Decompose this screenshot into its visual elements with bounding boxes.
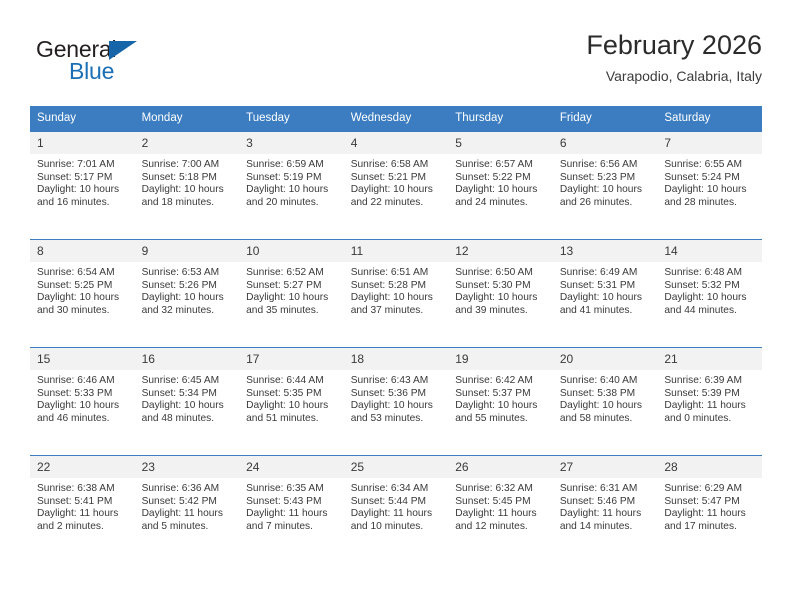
sunrise-text: Sunrise: 6:57 AM	[455, 159, 547, 172]
calendar-week-row: 22 Sunrise: 6:38 AM Sunset: 5:41 PM Dayl…	[30, 456, 762, 564]
day-number: 5	[448, 132, 553, 154]
calendar-page: General Blue February 2026 Varapodio, Ca…	[0, 0, 792, 612]
weekday-header-tuesday: Tuesday	[239, 106, 344, 132]
sunset-text: Sunset: 5:39 PM	[664, 388, 756, 401]
daylight-text: Daylight: 10 hours and 58 minutes.	[560, 400, 652, 425]
day-info: Sunrise: 6:53 AM Sunset: 5:26 PM Dayligh…	[135, 262, 240, 317]
daylight-text: Daylight: 10 hours and 24 minutes.	[455, 184, 547, 209]
calendar-day-cell[interactable]: 5 Sunrise: 6:57 AM Sunset: 5:22 PM Dayli…	[448, 132, 553, 240]
day-info: Sunrise: 6:59 AM Sunset: 5:19 PM Dayligh…	[239, 154, 344, 209]
sunset-text: Sunset: 5:26 PM	[142, 280, 234, 293]
day-number: 19	[448, 348, 553, 370]
daylight-text: Daylight: 10 hours and 44 minutes.	[664, 292, 756, 317]
day-number: 8	[30, 240, 135, 262]
day-number: 20	[553, 348, 658, 370]
day-info: Sunrise: 6:46 AM Sunset: 5:33 PM Dayligh…	[30, 370, 135, 425]
sunrise-text: Sunrise: 6:53 AM	[142, 267, 234, 280]
day-info: Sunrise: 6:44 AM Sunset: 5:35 PM Dayligh…	[239, 370, 344, 425]
calendar-day-cell[interactable]: 13 Sunrise: 6:49 AM Sunset: 5:31 PM Dayl…	[553, 240, 658, 348]
day-info: Sunrise: 6:52 AM Sunset: 5:27 PM Dayligh…	[239, 262, 344, 317]
sunset-text: Sunset: 5:42 PM	[142, 496, 234, 509]
logo-text-blue: Blue	[69, 58, 114, 85]
daylight-text: Daylight: 10 hours and 20 minutes.	[246, 184, 338, 209]
day-info: Sunrise: 6:43 AM Sunset: 5:36 PM Dayligh…	[344, 370, 449, 425]
sunrise-text: Sunrise: 6:52 AM	[246, 267, 338, 280]
sunset-text: Sunset: 5:25 PM	[37, 280, 129, 293]
sunrise-text: Sunrise: 6:43 AM	[351, 375, 443, 388]
calendar-day-cell[interactable]: 8 Sunrise: 6:54 AM Sunset: 5:25 PM Dayli…	[30, 240, 135, 348]
day-info: Sunrise: 6:57 AM Sunset: 5:22 PM Dayligh…	[448, 154, 553, 209]
calendar-week-row: 15 Sunrise: 6:46 AM Sunset: 5:33 PM Dayl…	[30, 348, 762, 456]
day-number: 26	[448, 456, 553, 478]
sunrise-text: Sunrise: 6:45 AM	[142, 375, 234, 388]
daylight-text: Daylight: 11 hours and 10 minutes.	[351, 508, 443, 533]
day-info: Sunrise: 6:48 AM Sunset: 5:32 PM Dayligh…	[657, 262, 762, 317]
daylight-text: Daylight: 10 hours and 28 minutes.	[664, 184, 756, 209]
sunset-text: Sunset: 5:22 PM	[455, 172, 547, 185]
day-info: Sunrise: 6:35 AM Sunset: 5:43 PM Dayligh…	[239, 478, 344, 533]
daylight-text: Daylight: 11 hours and 14 minutes.	[560, 508, 652, 533]
day-number: 21	[657, 348, 762, 370]
sunrise-text: Sunrise: 6:40 AM	[560, 375, 652, 388]
sunrise-text: Sunrise: 6:56 AM	[560, 159, 652, 172]
sunrise-text: Sunrise: 6:51 AM	[351, 267, 443, 280]
day-number: 13	[553, 240, 658, 262]
day-info: Sunrise: 6:49 AM Sunset: 5:31 PM Dayligh…	[553, 262, 658, 317]
day-number: 1	[30, 132, 135, 154]
sunset-text: Sunset: 5:36 PM	[351, 388, 443, 401]
calendar-day-cell[interactable]: 4 Sunrise: 6:58 AM Sunset: 5:21 PM Dayli…	[344, 132, 449, 240]
sunset-text: Sunset: 5:33 PM	[37, 388, 129, 401]
sunset-text: Sunset: 5:19 PM	[246, 172, 338, 185]
day-number: 24	[239, 456, 344, 478]
day-number: 7	[657, 132, 762, 154]
weekday-header-thursday: Thursday	[448, 106, 553, 132]
daylight-text: Daylight: 10 hours and 53 minutes.	[351, 400, 443, 425]
calendar-day-cell[interactable]: 23 Sunrise: 6:36 AM Sunset: 5:42 PM Dayl…	[135, 456, 240, 564]
sunset-text: Sunset: 5:32 PM	[664, 280, 756, 293]
calendar-day-cell[interactable]: 7 Sunrise: 6:55 AM Sunset: 5:24 PM Dayli…	[657, 132, 762, 240]
calendar-grid: Sunday Monday Tuesday Wednesday Thursday…	[30, 106, 762, 563]
calendar-day-cell[interactable]: 12 Sunrise: 6:50 AM Sunset: 5:30 PM Dayl…	[448, 240, 553, 348]
sunrise-text: Sunrise: 6:48 AM	[664, 267, 756, 280]
sunset-text: Sunset: 5:27 PM	[246, 280, 338, 293]
weekday-header-friday: Friday	[553, 106, 658, 132]
sunrise-text: Sunrise: 6:58 AM	[351, 159, 443, 172]
calendar-day-cell[interactable]: 25 Sunrise: 6:34 AM Sunset: 5:44 PM Dayl…	[344, 456, 449, 564]
calendar-day-cell[interactable]: 17 Sunrise: 6:44 AM Sunset: 5:35 PM Dayl…	[239, 348, 344, 456]
day-number: 11	[344, 240, 449, 262]
sunrise-text: Sunrise: 6:29 AM	[664, 483, 756, 496]
calendar-day-cell[interactable]: 11 Sunrise: 6:51 AM Sunset: 5:28 PM Dayl…	[344, 240, 449, 348]
day-number: 15	[30, 348, 135, 370]
daylight-text: Daylight: 11 hours and 0 minutes.	[664, 400, 756, 425]
day-info: Sunrise: 7:01 AM Sunset: 5:17 PM Dayligh…	[30, 154, 135, 209]
calendar-day-cell[interactable]: 26 Sunrise: 6:32 AM Sunset: 5:45 PM Dayl…	[448, 456, 553, 564]
sunrise-text: Sunrise: 6:31 AM	[560, 483, 652, 496]
day-info: Sunrise: 6:58 AM Sunset: 5:21 PM Dayligh…	[344, 154, 449, 209]
calendar-day-cell[interactable]: 18 Sunrise: 6:43 AM Sunset: 5:36 PM Dayl…	[344, 348, 449, 456]
sunset-text: Sunset: 5:17 PM	[37, 172, 129, 185]
sunset-text: Sunset: 5:41 PM	[37, 496, 129, 509]
weekday-header-wednesday: Wednesday	[344, 106, 449, 132]
sunset-text: Sunset: 5:30 PM	[455, 280, 547, 293]
day-info: Sunrise: 6:45 AM Sunset: 5:34 PM Dayligh…	[135, 370, 240, 425]
daylight-text: Daylight: 10 hours and 41 minutes.	[560, 292, 652, 317]
calendar-header-row: Sunday Monday Tuesday Wednesday Thursday…	[30, 106, 762, 132]
day-info: Sunrise: 6:42 AM Sunset: 5:37 PM Dayligh…	[448, 370, 553, 425]
sunrise-text: Sunrise: 6:42 AM	[455, 375, 547, 388]
weekday-header-sunday: Sunday	[30, 106, 135, 132]
day-info: Sunrise: 6:29 AM Sunset: 5:47 PM Dayligh…	[657, 478, 762, 533]
calendar-day-cell[interactable]: 15 Sunrise: 6:46 AM Sunset: 5:33 PM Dayl…	[30, 348, 135, 456]
day-number: 25	[344, 456, 449, 478]
day-number: 4	[344, 132, 449, 154]
sunset-text: Sunset: 5:21 PM	[351, 172, 443, 185]
calendar-day-cell[interactable]: 19 Sunrise: 6:42 AM Sunset: 5:37 PM Dayl…	[448, 348, 553, 456]
day-info: Sunrise: 6:34 AM Sunset: 5:44 PM Dayligh…	[344, 478, 449, 533]
daylight-text: Daylight: 10 hours and 16 minutes.	[37, 184, 129, 209]
day-info: Sunrise: 6:55 AM Sunset: 5:24 PM Dayligh…	[657, 154, 762, 209]
sunrise-text: Sunrise: 6:59 AM	[246, 159, 338, 172]
sunset-text: Sunset: 5:23 PM	[560, 172, 652, 185]
sunset-text: Sunset: 5:24 PM	[664, 172, 756, 185]
sunset-text: Sunset: 5:35 PM	[246, 388, 338, 401]
sunrise-text: Sunrise: 6:32 AM	[455, 483, 547, 496]
day-number: 6	[553, 132, 658, 154]
daylight-text: Daylight: 10 hours and 48 minutes.	[142, 400, 234, 425]
daylight-text: Daylight: 10 hours and 22 minutes.	[351, 184, 443, 209]
sunrise-text: Sunrise: 6:54 AM	[37, 267, 129, 280]
sunset-text: Sunset: 5:38 PM	[560, 388, 652, 401]
daylight-text: Daylight: 11 hours and 12 minutes.	[455, 508, 547, 533]
sunset-text: Sunset: 5:44 PM	[351, 496, 443, 509]
sunset-text: Sunset: 5:45 PM	[455, 496, 547, 509]
sunrise-text: Sunrise: 6:39 AM	[664, 375, 756, 388]
day-info: Sunrise: 6:39 AM Sunset: 5:39 PM Dayligh…	[657, 370, 762, 425]
sunrise-text: Sunrise: 6:46 AM	[37, 375, 129, 388]
page-header: General Blue February 2026 Varapodio, Ca…	[30, 28, 762, 100]
calendar-day-cell[interactable]: 2 Sunrise: 7:00 AM Sunset: 5:18 PM Dayli…	[135, 132, 240, 240]
daylight-text: Daylight: 10 hours and 55 minutes.	[455, 400, 547, 425]
sunset-text: Sunset: 5:28 PM	[351, 280, 443, 293]
sunrise-text: Sunrise: 6:35 AM	[246, 483, 338, 496]
sunrise-text: Sunrise: 6:55 AM	[664, 159, 756, 172]
daylight-text: Daylight: 11 hours and 5 minutes.	[142, 508, 234, 533]
daylight-text: Daylight: 10 hours and 32 minutes.	[142, 292, 234, 317]
sunrise-text: Sunrise: 6:34 AM	[351, 483, 443, 496]
daylight-text: Daylight: 10 hours and 46 minutes.	[37, 400, 129, 425]
day-number: 27	[553, 456, 658, 478]
sunset-text: Sunset: 5:34 PM	[142, 388, 234, 401]
calendar-day-cell[interactable]: 6 Sunrise: 6:56 AM Sunset: 5:23 PM Dayli…	[553, 132, 658, 240]
calendar-week-row: 8 Sunrise: 6:54 AM Sunset: 5:25 PM Dayli…	[30, 240, 762, 348]
day-info: Sunrise: 6:56 AM Sunset: 5:23 PM Dayligh…	[553, 154, 658, 209]
day-number: 23	[135, 456, 240, 478]
calendar-day-cell[interactable]: 16 Sunrise: 6:45 AM Sunset: 5:34 PM Dayl…	[135, 348, 240, 456]
day-number: 18	[344, 348, 449, 370]
day-info: Sunrise: 6:32 AM Sunset: 5:45 PM Dayligh…	[448, 478, 553, 533]
day-number: 2	[135, 132, 240, 154]
daylight-text: Daylight: 11 hours and 17 minutes.	[664, 508, 756, 533]
calendar-day-cell[interactable]: 3 Sunrise: 6:59 AM Sunset: 5:19 PM Dayli…	[239, 132, 344, 240]
sunrise-text: Sunrise: 6:38 AM	[37, 483, 129, 496]
day-info: Sunrise: 6:38 AM Sunset: 5:41 PM Dayligh…	[30, 478, 135, 533]
day-info: Sunrise: 6:36 AM Sunset: 5:42 PM Dayligh…	[135, 478, 240, 533]
title-block: February 2026 Varapodio, Calabria, Italy	[586, 28, 762, 86]
calendar-day-cell[interactable]: 9 Sunrise: 6:53 AM Sunset: 5:26 PM Dayli…	[135, 240, 240, 348]
daylight-text: Daylight: 10 hours and 35 minutes.	[246, 292, 338, 317]
day-number: 28	[657, 456, 762, 478]
sunrise-text: Sunrise: 6:49 AM	[560, 267, 652, 280]
daylight-text: Daylight: 10 hours and 39 minutes.	[455, 292, 547, 317]
calendar-day-cell[interactable]: 20 Sunrise: 6:40 AM Sunset: 5:38 PM Dayl…	[553, 348, 658, 456]
calendar-day-cell[interactable]: 27 Sunrise: 6:31 AM Sunset: 5:46 PM Dayl…	[553, 456, 658, 564]
calendar-week-row: 1 Sunrise: 7:01 AM Sunset: 5:17 PM Dayli…	[30, 132, 762, 240]
calendar-day-cell[interactable]: 14 Sunrise: 6:48 AM Sunset: 5:32 PM Dayl…	[657, 240, 762, 348]
sunrise-text: Sunrise: 7:01 AM	[37, 159, 129, 172]
daylight-text: Daylight: 11 hours and 2 minutes.	[37, 508, 129, 533]
day-number: 16	[135, 348, 240, 370]
daylight-text: Daylight: 11 hours and 7 minutes.	[246, 508, 338, 533]
weekday-header-saturday: Saturday	[657, 106, 762, 132]
sunrise-text: Sunrise: 6:50 AM	[455, 267, 547, 280]
daylight-text: Daylight: 10 hours and 26 minutes.	[560, 184, 652, 209]
day-info: Sunrise: 7:00 AM Sunset: 5:18 PM Dayligh…	[135, 154, 240, 209]
day-number: 14	[657, 240, 762, 262]
calendar-body: 1 Sunrise: 7:01 AM Sunset: 5:17 PM Dayli…	[30, 132, 762, 564]
calendar-day-cell[interactable]: 1 Sunrise: 7:01 AM Sunset: 5:17 PM Dayli…	[30, 132, 135, 240]
sunset-text: Sunset: 5:47 PM	[664, 496, 756, 509]
sunset-text: Sunset: 5:43 PM	[246, 496, 338, 509]
day-number: 3	[239, 132, 344, 154]
calendar-day-cell[interactable]: 22 Sunrise: 6:38 AM Sunset: 5:41 PM Dayl…	[30, 456, 135, 564]
day-info: Sunrise: 6:31 AM Sunset: 5:46 PM Dayligh…	[553, 478, 658, 533]
calendar-day-cell[interactable]: 21 Sunrise: 6:39 AM Sunset: 5:39 PM Dayl…	[657, 348, 762, 456]
day-info: Sunrise: 6:54 AM Sunset: 5:25 PM Dayligh…	[30, 262, 135, 317]
daylight-text: Daylight: 10 hours and 18 minutes.	[142, 184, 234, 209]
daylight-text: Daylight: 10 hours and 37 minutes.	[351, 292, 443, 317]
page-title: February 2026	[586, 28, 762, 62]
calendar-day-cell[interactable]: 24 Sunrise: 6:35 AM Sunset: 5:43 PM Dayl…	[239, 456, 344, 564]
day-number: 10	[239, 240, 344, 262]
sunset-text: Sunset: 5:31 PM	[560, 280, 652, 293]
day-number: 12	[448, 240, 553, 262]
page-subtitle: Varapodio, Calabria, Italy	[586, 66, 762, 86]
sunrise-text: Sunrise: 7:00 AM	[142, 159, 234, 172]
calendar-day-cell[interactable]: 28 Sunrise: 6:29 AM Sunset: 5:47 PM Dayl…	[657, 456, 762, 564]
weekday-header-monday: Monday	[135, 106, 240, 132]
day-info: Sunrise: 6:51 AM Sunset: 5:28 PM Dayligh…	[344, 262, 449, 317]
sunrise-text: Sunrise: 6:36 AM	[142, 483, 234, 496]
day-number: 17	[239, 348, 344, 370]
daylight-text: Daylight: 10 hours and 30 minutes.	[37, 292, 129, 317]
calendar-day-cell[interactable]: 10 Sunrise: 6:52 AM Sunset: 5:27 PM Dayl…	[239, 240, 344, 348]
day-number: 9	[135, 240, 240, 262]
daylight-text: Daylight: 10 hours and 51 minutes.	[246, 400, 338, 425]
sunset-text: Sunset: 5:46 PM	[560, 496, 652, 509]
general-blue-logo: General Blue	[36, 36, 236, 92]
day-info: Sunrise: 6:40 AM Sunset: 5:38 PM Dayligh…	[553, 370, 658, 425]
day-number: 22	[30, 456, 135, 478]
day-info: Sunrise: 6:50 AM Sunset: 5:30 PM Dayligh…	[448, 262, 553, 317]
sunset-text: Sunset: 5:18 PM	[142, 172, 234, 185]
sunset-text: Sunset: 5:37 PM	[455, 388, 547, 401]
sunrise-text: Sunrise: 6:44 AM	[246, 375, 338, 388]
